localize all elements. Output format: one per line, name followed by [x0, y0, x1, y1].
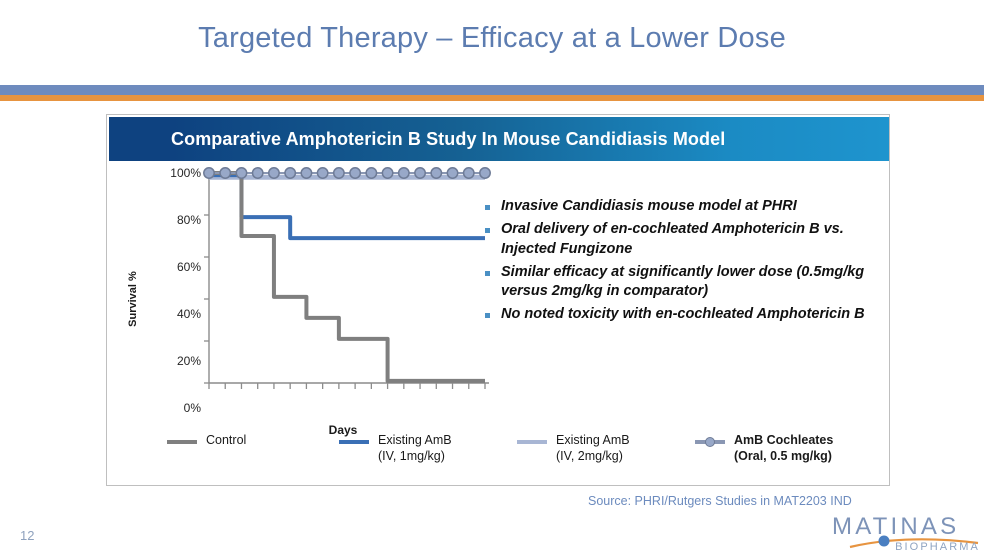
series-line	[209, 175, 485, 238]
matinas-biopharma-logo: MATINAS BIOPHARMA	[832, 513, 980, 554]
chart-card: Comparative Amphotericin B Study In Mous…	[106, 114, 890, 486]
chart-banner-title: Comparative Amphotericin B Study In Mous…	[109, 129, 725, 150]
logo-tagline: BIOPHARMA	[895, 541, 980, 553]
divider-bar-orange	[0, 95, 984, 101]
slide: Targeted Therapy – Efficacy at a Lower D…	[0, 0, 984, 554]
legend-label: Existing AmB (IV, 1mg/kg)	[378, 433, 452, 465]
legend-item-control: Control	[167, 433, 339, 485]
series-marker	[317, 168, 327, 178]
series-marker	[366, 168, 376, 178]
y-tick-label: 100%	[155, 166, 201, 180]
series-marker	[334, 168, 344, 178]
legend-item-amb-cochleates: AmB Cochleates (Oral, 0.5 mg/kg)	[695, 433, 833, 485]
list-item: Oral delivery of en-cochleated Amphoteri…	[485, 220, 885, 259]
series-line	[209, 173, 485, 381]
source-note: Source: PHRI/Rutgers Studies in MAT2203 …	[588, 494, 852, 508]
legend-swatch-icon	[339, 435, 369, 449]
y-tick-label: 40%	[155, 307, 201, 321]
series-marker	[447, 168, 457, 178]
legend-item-amb-1mg: Existing AmB (IV, 1mg/kg)	[339, 433, 517, 485]
y-tick-label: 80%	[155, 213, 201, 227]
series-marker	[269, 168, 279, 178]
series-marker	[480, 168, 490, 178]
page-number: 12	[20, 528, 34, 543]
legend-swatch-icon	[517, 435, 547, 449]
series-marker	[382, 168, 392, 178]
series-marker	[236, 168, 246, 178]
list-item-text: No noted toxicity with en-cochleated Amp…	[501, 305, 865, 324]
list-item-text: Oral delivery of en-cochleated Amphoteri…	[501, 220, 885, 259]
chart-legend: Control Existing AmB (IV, 1mg/kg) Existi…	[109, 433, 889, 485]
y-axis-label: Survival %	[127, 253, 139, 345]
series-marker	[350, 168, 360, 178]
y-axis-ticks: 100% 80% 60% 40% 20% 0%	[149, 165, 201, 415]
series-marker	[204, 168, 214, 178]
series-marker	[431, 168, 441, 178]
list-item: No noted toxicity with en-cochleated Amp…	[485, 305, 885, 324]
square-bullet-icon	[485, 271, 490, 276]
legend-label: Control	[206, 433, 246, 449]
series-marker	[399, 168, 409, 178]
y-tick-label: 20%	[155, 354, 201, 368]
list-item: Similar efficacy at significantly lower …	[485, 263, 885, 302]
page-title: Targeted Therapy – Efficacy at a Lower D…	[0, 22, 984, 55]
divider-bar-blue	[0, 85, 984, 95]
series-marker	[285, 168, 295, 178]
list-item: Invasive Candidiasis mouse model at PHRI	[485, 197, 885, 216]
legend-swatch-icon	[167, 435, 197, 449]
square-bullet-icon	[485, 205, 490, 210]
series-marker	[415, 168, 425, 178]
y-tick-label: 0%	[155, 401, 201, 415]
chart-banner: Comparative Amphotericin B Study In Mous…	[109, 117, 889, 161]
series-marker	[253, 168, 263, 178]
list-item-text: Similar efficacy at significantly lower …	[501, 263, 885, 302]
legend-label: Existing AmB (IV, 2mg/kg)	[556, 433, 630, 465]
y-tick-label: 60%	[155, 260, 201, 274]
findings-list: Invasive Candidiasis mouse model at PHRI…	[485, 197, 885, 329]
legend-item-amb-2mg: Existing AmB (IV, 2mg/kg)	[517, 433, 695, 485]
legend-swatch-marker-icon	[695, 435, 725, 449]
survival-curve-chart	[203, 165, 499, 421]
legend-label: AmB Cochleates (Oral, 0.5 mg/kg)	[734, 433, 833, 465]
legend-marker-dot-icon	[705, 437, 715, 447]
series-marker	[464, 168, 474, 178]
series-marker	[301, 168, 311, 178]
square-bullet-icon	[485, 228, 490, 233]
list-item-text: Invasive Candidiasis mouse model at PHRI	[501, 197, 797, 216]
series-marker	[220, 168, 230, 178]
square-bullet-icon	[485, 313, 490, 318]
